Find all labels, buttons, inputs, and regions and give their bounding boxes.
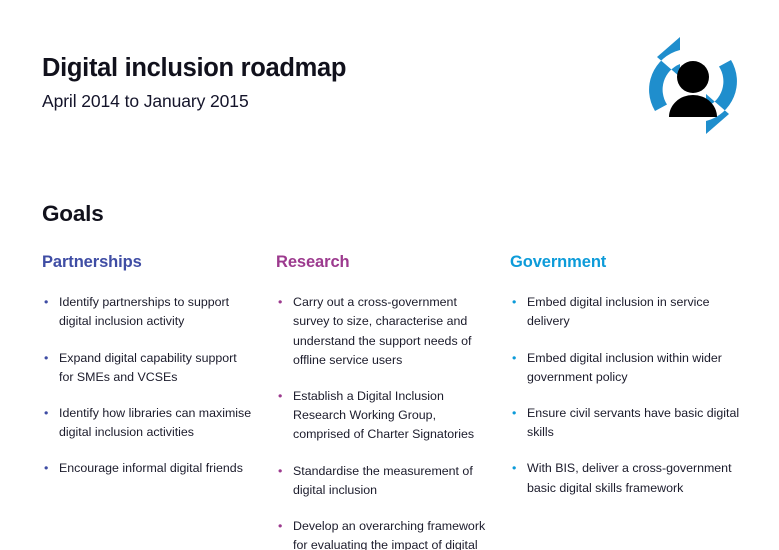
goal-item-text: Ensure civil servants have basic digital… xyxy=(527,406,739,439)
goal-item-text: Carry out a cross-government survey to s… xyxy=(293,295,471,367)
bullet-icon: • xyxy=(512,404,516,423)
goal-item: • Identify partnerships to support digit… xyxy=(42,293,252,331)
goal-item: • Encourage informal digital friends xyxy=(42,459,252,478)
goal-item-text: Identify partnerships to support digital… xyxy=(59,295,229,328)
goal-item: • Ensure civil servants have basic digit… xyxy=(510,404,744,442)
bullet-icon: • xyxy=(44,404,48,423)
goal-list-government: • Embed digital inclusion in service del… xyxy=(510,293,744,498)
goal-list-partnerships: • Identify partnerships to support digit… xyxy=(42,293,252,479)
goal-column-research: Research • Carry out a cross-government … xyxy=(276,253,510,550)
goal-column-heading-research: Research xyxy=(276,253,486,271)
goal-item: • Identify how libraries can maximise di… xyxy=(42,404,252,442)
goal-column-government: Government • Embed digital inclusion in … xyxy=(510,253,744,550)
goal-item: • Establish a Digital Inclusion Research… xyxy=(276,387,486,445)
goals-columns: Partnerships • Identify partnerships to … xyxy=(42,253,742,550)
goal-column-heading-partnerships: Partnerships xyxy=(42,253,252,271)
goal-column-partnerships: Partnerships • Identify partnerships to … xyxy=(42,253,276,550)
goals-heading: Goals xyxy=(42,201,104,227)
document-header: Digital inclusion roadmap April 2014 to … xyxy=(42,54,602,111)
bullet-icon: • xyxy=(278,293,282,312)
refresh-person-icon xyxy=(633,33,753,138)
goal-item-text: Standardise the measurement of digital i… xyxy=(293,464,473,497)
goal-item: • Carry out a cross-government survey to… xyxy=(276,293,486,370)
page-title: Digital inclusion roadmap xyxy=(42,54,602,82)
bullet-icon: • xyxy=(512,293,516,312)
goal-item: • Standardise the measurement of digital… xyxy=(276,462,486,500)
bullet-icon: • xyxy=(44,349,48,368)
document-page: Digital inclusion roadmap April 2014 to … xyxy=(0,0,779,550)
bullet-icon: • xyxy=(512,459,516,478)
bullet-icon: • xyxy=(278,517,282,536)
bullet-icon: • xyxy=(512,349,516,368)
goal-item: • With BIS, deliver a cross-government b… xyxy=(510,459,744,497)
goal-item: • Embed digital inclusion in service del… xyxy=(510,293,744,331)
goal-item-text: Encourage informal digital friends xyxy=(59,461,243,475)
goal-item-text: Identify how libraries can maximise digi… xyxy=(59,406,251,439)
goal-item-text: Embed digital inclusion in service deliv… xyxy=(527,295,710,328)
page-subtitle: April 2014 to January 2015 xyxy=(42,91,602,111)
bullet-icon: • xyxy=(278,387,282,406)
goal-item-text: With BIS, deliver a cross-government bas… xyxy=(527,461,732,494)
goal-item: • Develop an overarching framework for e… xyxy=(276,517,486,550)
bullet-icon: • xyxy=(44,459,48,478)
goal-item: • Embed digital inclusion within wider g… xyxy=(510,349,744,387)
goal-list-research: • Carry out a cross-government survey to… xyxy=(276,293,486,550)
goal-item-text: Expand digital capability support for SM… xyxy=(59,351,237,384)
goal-item-text: Develop an overarching framework for eva… xyxy=(293,519,485,550)
goal-item: • Expand digital capability support for … xyxy=(42,349,252,387)
bullet-icon: • xyxy=(44,293,48,312)
bullet-icon: • xyxy=(278,462,282,481)
digital-inclusion-logo xyxy=(633,33,753,138)
goal-item-text: Embed digital inclusion within wider gov… xyxy=(527,351,722,384)
goal-column-heading-government: Government xyxy=(510,253,744,271)
goal-item-text: Establish a Digital Inclusion Research W… xyxy=(293,389,474,441)
